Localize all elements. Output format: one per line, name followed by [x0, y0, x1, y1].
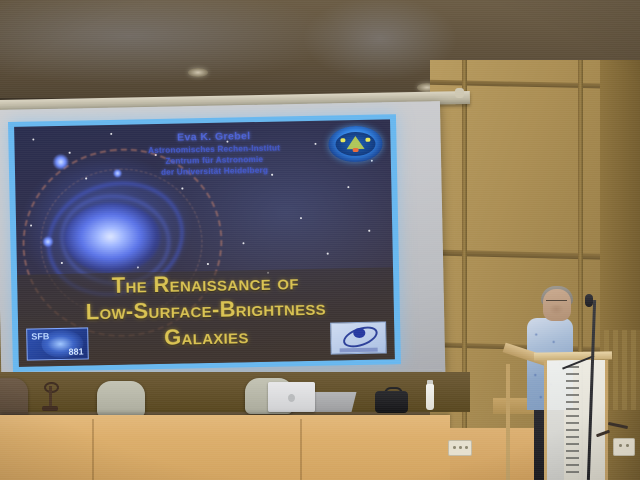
wall-beam-vertical — [462, 60, 467, 480]
sfb-logo-icon: SFB 881 — [26, 327, 89, 360]
water-bottle — [426, 384, 434, 410]
power-socket-plate — [613, 438, 635, 456]
slide-title-line-2: Low-Surface-Brightness — [18, 296, 394, 326]
lecture-hall-photo: Eva K. Grebel Astronomisches Rechen-Inst… — [0, 0, 640, 480]
camera-bag — [375, 391, 408, 413]
chair — [0, 378, 28, 420]
table-microphone-base — [42, 406, 58, 411]
lectern-speaker-grille — [566, 366, 579, 478]
sfb-logo-top-text: SFB — [31, 331, 49, 341]
power-socket-plate — [448, 440, 472, 456]
projected-slide-border: Eva K. Grebel Astronomisches Rechen-Inst… — [8, 114, 401, 372]
lectern — [536, 352, 610, 480]
microphone-icon — [585, 294, 593, 307]
speaker-face — [549, 305, 564, 315]
lectern-top-edge — [534, 351, 612, 360]
recessed-spotlight-icon — [188, 68, 208, 77]
table-microphone-stem — [49, 386, 52, 408]
institute-spiral-logo-icon — [330, 321, 387, 354]
chair — [97, 381, 145, 417]
desk — [0, 415, 450, 480]
slide-header: Eva K. Grebel Astronomisches Rechen-Inst… — [106, 129, 322, 180]
sfb-logo-bottom-text: 881 — [68, 347, 83, 357]
projected-slide: Eva K. Grebel Astronomisches Rechen-Inst… — [14, 119, 395, 366]
roller-end-cap — [455, 88, 464, 98]
apple-logo-icon — [288, 394, 295, 402]
